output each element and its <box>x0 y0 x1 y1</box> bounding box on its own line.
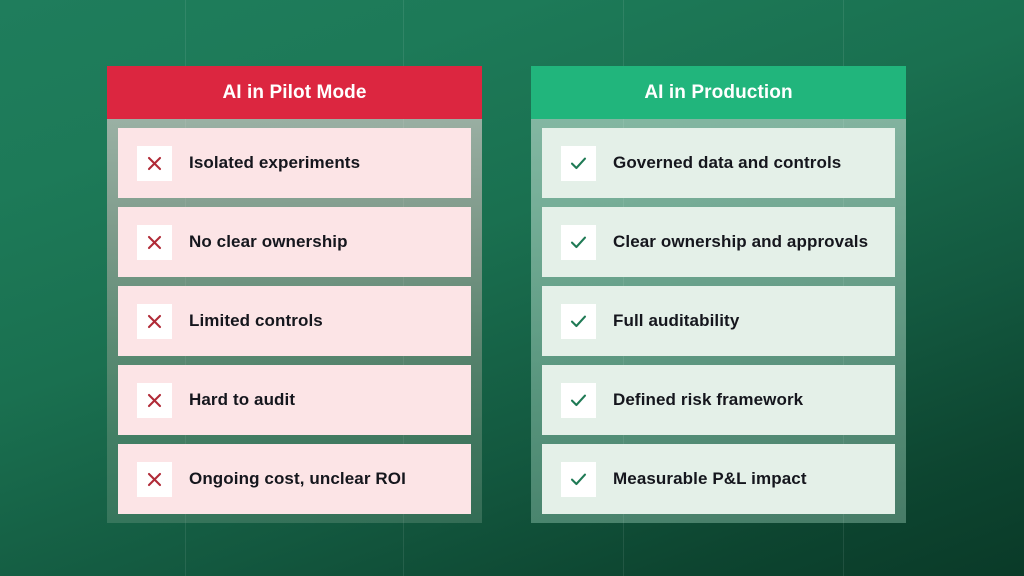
x-icon <box>137 462 172 497</box>
list-item[interactable]: No clear ownership <box>118 207 471 277</box>
x-icon <box>137 225 172 260</box>
list-item-label: Full auditability <box>613 311 739 331</box>
list-item-label: Hard to audit <box>189 390 295 410</box>
slide-canvas: AI in Pilot Mode Isolated experiments No… <box>0 0 1024 576</box>
list-item[interactable]: Full auditability <box>542 286 895 356</box>
list-item[interactable]: Isolated experiments <box>118 128 471 198</box>
comparison-column-production: AI in Production Governed data and contr… <box>531 66 906 523</box>
check-icon <box>561 225 596 260</box>
list-item-label: Ongoing cost, unclear ROI <box>189 469 406 489</box>
list-item[interactable]: Clear ownership and approvals <box>542 207 895 277</box>
check-icon <box>561 383 596 418</box>
check-icon <box>561 462 596 497</box>
list-item-label: Measurable P&L impact <box>613 469 807 489</box>
column-header-pilot: AI in Pilot Mode <box>107 66 482 119</box>
check-icon <box>561 304 596 339</box>
x-icon <box>137 383 172 418</box>
list-item-label: Clear ownership and approvals <box>613 232 868 252</box>
list-item[interactable]: Limited controls <box>118 286 471 356</box>
list-item-label: No clear ownership <box>189 232 348 252</box>
comparison-column-pilot: AI in Pilot Mode Isolated experiments No… <box>107 66 482 523</box>
list-item[interactable]: Governed data and controls <box>542 128 895 198</box>
column-body-production: Governed data and controls Clear ownersh… <box>531 119 906 523</box>
list-item-label: Governed data and controls <box>613 153 841 173</box>
list-item-label: Isolated experiments <box>189 153 360 173</box>
column-header-production: AI in Production <box>531 66 906 119</box>
list-item[interactable]: Measurable P&L impact <box>542 444 895 514</box>
column-body-pilot: Isolated experiments No clear ownership … <box>107 119 482 523</box>
check-icon <box>561 146 596 181</box>
x-icon <box>137 304 172 339</box>
list-item[interactable]: Defined risk framework <box>542 365 895 435</box>
list-item-label: Limited controls <box>189 311 323 331</box>
list-item[interactable]: Ongoing cost, unclear ROI <box>118 444 471 514</box>
x-icon <box>137 146 172 181</box>
list-item-label: Defined risk framework <box>613 390 803 410</box>
list-item[interactable]: Hard to audit <box>118 365 471 435</box>
